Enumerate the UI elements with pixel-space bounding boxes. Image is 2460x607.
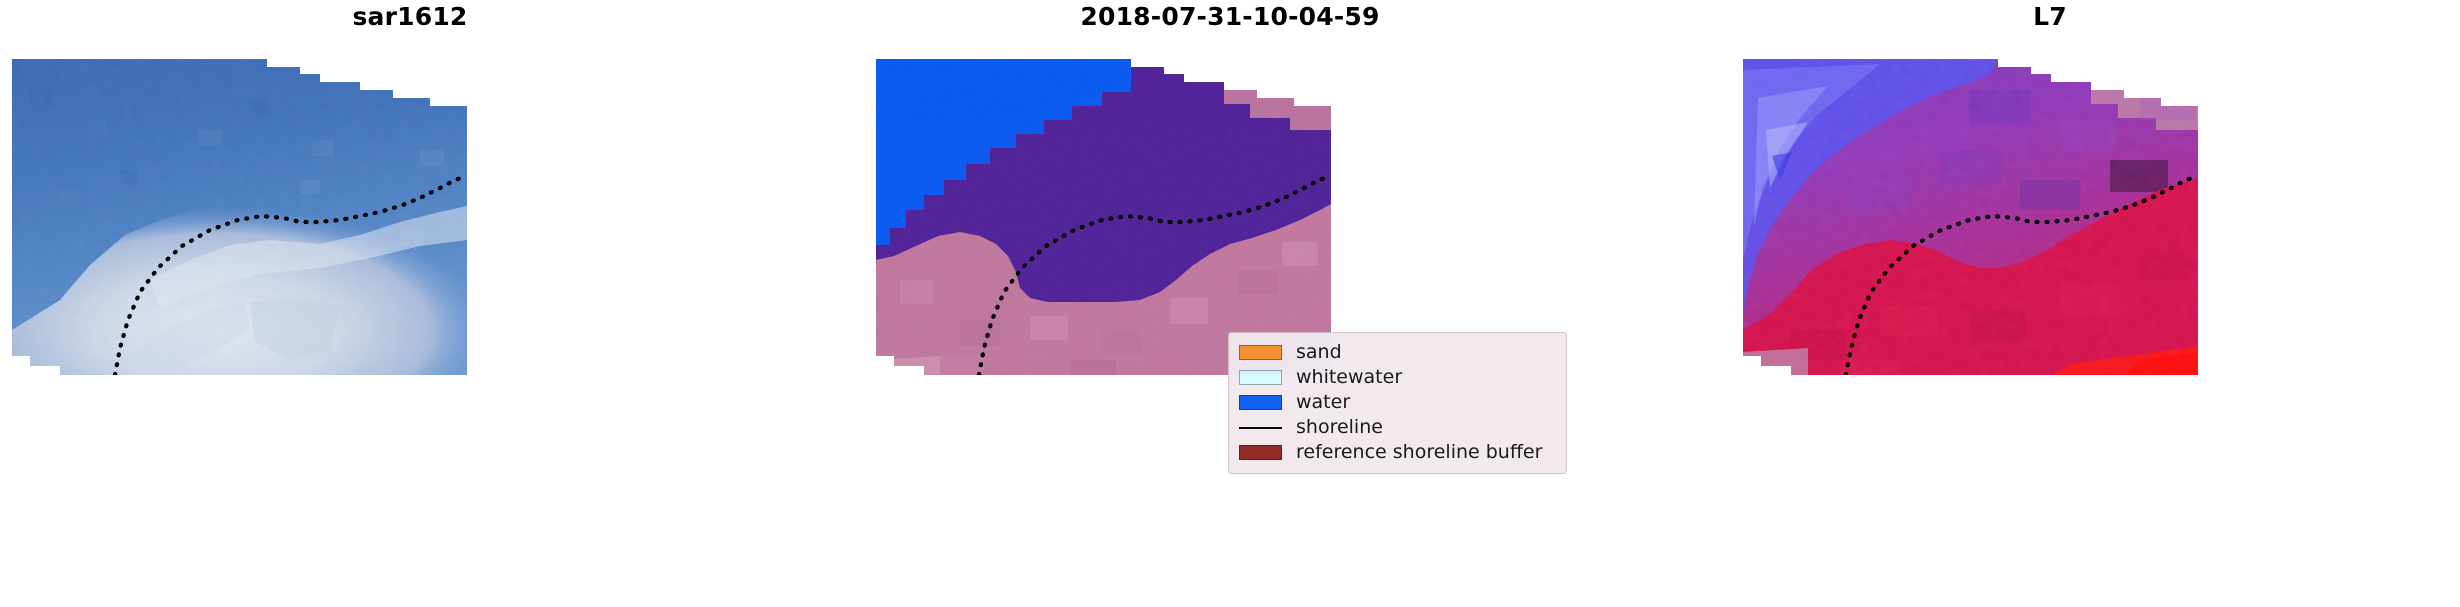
- legend-item-whitewater: whitewater: [1239, 365, 1556, 390]
- sar1612-image: [0, 30, 820, 375]
- panel-title-l7: L7: [1640, 2, 2460, 31]
- sand-swatch-icon: [1239, 345, 1282, 360]
- legend-item-shoreline: shoreline: [1239, 415, 1556, 440]
- legend-label-sand: sand: [1296, 343, 1342, 362]
- shoreline-detection-figure: sar1612: [0, 0, 2460, 607]
- legend-label-water: water: [1296, 393, 1350, 412]
- panel-sar1612: sar1612: [0, 0, 820, 607]
- legend-item-sand: sand: [1239, 340, 1556, 365]
- legend: sand whitewater water shoreline referenc…: [1228, 332, 1567, 474]
- classified-image: [820, 30, 1640, 375]
- whitewater-swatch-icon: [1239, 370, 1282, 385]
- legend-label-whitewater: whitewater: [1296, 368, 1402, 387]
- panel-l7: L7: [1640, 0, 2460, 607]
- legend-label-shoreline: shoreline: [1296, 418, 1383, 437]
- axes-sar1612: [0, 30, 820, 375]
- panel-title-classified: 2018-07-31-10-04-59: [820, 2, 1640, 31]
- shoreline-line-icon: [1239, 420, 1282, 435]
- panel-title-sar1612: sar1612: [0, 2, 820, 31]
- axes-l7: [1640, 30, 2460, 375]
- legend-item-reference-buffer: reference shoreline buffer: [1239, 440, 1556, 465]
- reference-buffer-swatch-icon: [1239, 445, 1282, 460]
- panel-classified: 2018-07-31-10-04-59: [820, 0, 1640, 607]
- axes-classified: [820, 30, 1640, 375]
- water-swatch-icon: [1239, 395, 1282, 410]
- legend-label-reference-buffer: reference shoreline buffer: [1296, 443, 1542, 462]
- legend-item-water: water: [1239, 390, 1556, 415]
- l7-image: [1640, 30, 2460, 375]
